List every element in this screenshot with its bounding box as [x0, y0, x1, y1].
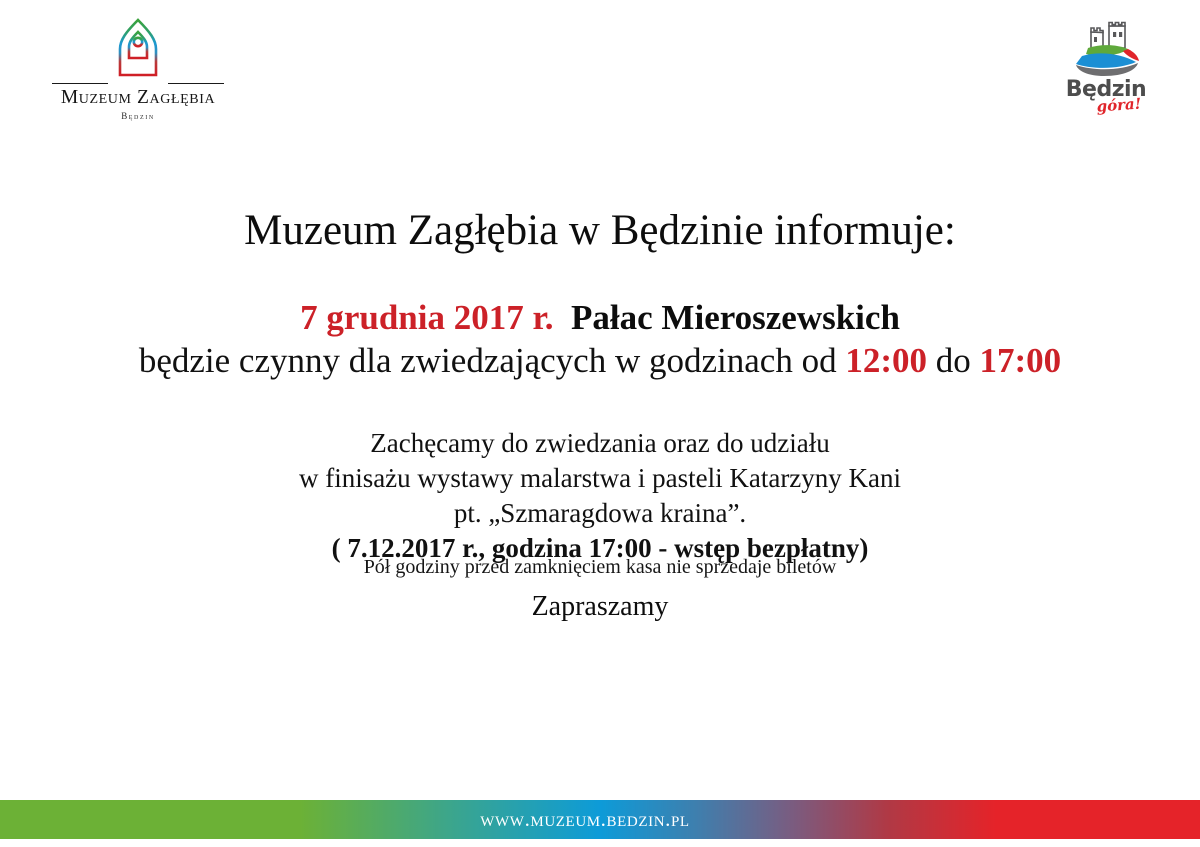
opening-date-line: 7 grudnia 2017 r. Pałac Mieroszewskich [0, 297, 1200, 338]
closing-block: Pół godziny przed zamknięciem kasa nie s… [0, 555, 1200, 624]
time-to: 17:00 [979, 341, 1061, 380]
opening-date: 7 grudnia 2017 r. [300, 298, 553, 337]
invitation-line-1: Zachęcamy do zwiedzania oraz do udziału [0, 426, 1200, 461]
opening-times-line: będzie czynny dla zwiedzających w godzin… [0, 340, 1200, 381]
opening-hours-block: 7 grudnia 2017 r. Pałac Mieroszewskich b… [0, 297, 1200, 382]
invitation-line-3: pt. „Szmaragdowa kraina”. [0, 496, 1200, 531]
time-from: 12:00 [845, 341, 927, 380]
museum-logo-city: Będzin [48, 111, 228, 121]
museum-zaglebia-logo: Muzeum Zagłębia Będzin [48, 18, 228, 121]
opening-prefix-text: będzie czynny dla zwiedzających w godzin… [139, 341, 845, 380]
museum-logo-name: Muzeum Zagłębia [48, 87, 228, 109]
poster-header: Muzeum Zagłębia Będzin [0, 0, 1200, 135]
venue-name: Pałac Mieroszewskich [571, 298, 900, 337]
gothic-window-icon [111, 18, 165, 80]
opening-middle-text: do [927, 341, 980, 380]
poster-content: Muzeum Zagłębia w Będzinie informuje: 7 … [0, 150, 1200, 566]
invitation-line-2: w finisażu wystawy malarstwa i pasteli K… [0, 461, 1200, 496]
poster-canvas: Muzeum Zagłębia Będzin [0, 0, 1200, 847]
invitation-block: Zachęcamy do zwiedzania oraz do udziału … [0, 426, 1200, 566]
page-title: Muzeum Zagłębia w Będzinie informuje: [0, 208, 1200, 253]
footer-website-url[interactable]: www.muzeum.bedzin.pl [480, 807, 689, 832]
bedzin-castle-hill-icon [1058, 18, 1154, 82]
footer-gradient-bar: www.muzeum.bedzin.pl [0, 800, 1200, 839]
welcome-text: Zapraszamy [0, 589, 1200, 624]
logo-divider-rules [52, 81, 224, 87]
bedzin-city-logo: Będzin góra! [1046, 18, 1166, 126]
ticket-office-note: Pół godziny przed zamknięciem kasa nie s… [0, 555, 1200, 579]
